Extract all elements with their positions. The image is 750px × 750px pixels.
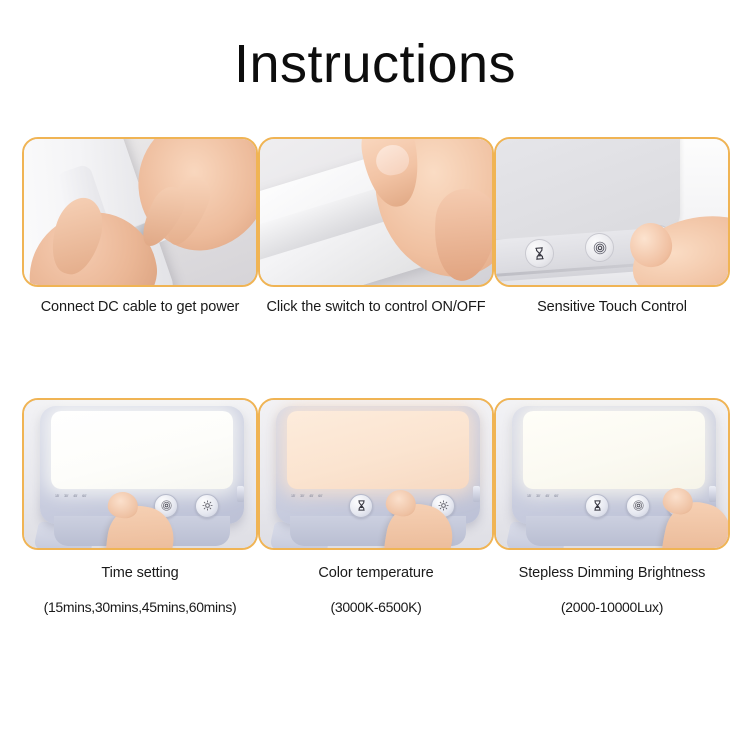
timer-mark-label: 45'	[545, 495, 549, 499]
timer-mark-label: 15'	[527, 495, 531, 499]
step-caption: Connect DC cable to get power	[41, 298, 240, 316]
lamp-port-icon	[709, 486, 716, 502]
timer-mark-45: 45'	[309, 495, 313, 499]
timer-indicator-marks: 15' 30' 45' 60'	[527, 495, 558, 499]
instruction-step-connect-power: Connect DC cable to get power	[22, 137, 258, 316]
timer-indicator-marks: 15' 30' 45' 60'	[291, 495, 322, 499]
scene-color-temperature: 15' 30' 45' 60'	[260, 400, 492, 548]
timer-mark-45: 45'	[73, 495, 77, 499]
timer-mark-30: 30'	[536, 495, 540, 499]
photo-frame-switch-onoff	[258, 137, 494, 287]
timer-mark-label: 30'	[300, 495, 304, 499]
timer-mark-15: 15'	[291, 495, 295, 499]
scene-connect-power	[24, 139, 256, 285]
photo-frame-time-setting: 15' 30' 45' 60'	[22, 398, 258, 550]
instruction-step-dimming-brightness: 15' 30' 45' 60'	[494, 398, 730, 615]
step-subcaption: (3000K-6500K)	[330, 599, 421, 615]
instruction-row-top: Connect DC cable to get power Click the …	[0, 137, 750, 316]
brightness-icon	[195, 494, 219, 518]
lamp-port-icon	[237, 486, 244, 502]
color-temperature-icon	[626, 494, 650, 518]
timer-mark-15: 15'	[55, 495, 59, 499]
timer-mark-label: 30'	[64, 495, 68, 499]
scene-dimming-brightness: 15' 30' 45' 60'	[496, 400, 728, 548]
timer-mark-label: 45'	[309, 495, 313, 499]
timer-mark-30: 30'	[64, 495, 68, 499]
timer-mark-45: 45'	[545, 495, 549, 499]
page-title: Instructions	[0, 0, 750, 93]
timer-mark-label: 30'	[536, 495, 540, 499]
photo-frame-connect-power	[22, 137, 258, 287]
step-caption: Click the switch to control ON/OFF	[267, 298, 486, 316]
light-panel	[287, 411, 469, 489]
hourglass-icon	[585, 494, 609, 518]
timer-mark-label: 60'	[318, 495, 322, 499]
lamp-port-icon	[473, 486, 480, 502]
timer-mark-15: 15'	[527, 495, 531, 499]
timer-mark-label: 15'	[55, 495, 59, 499]
timer-mark-label: 45'	[73, 495, 77, 499]
timer-indicator-marks: 15' 30' 45' 60'	[55, 495, 86, 499]
instruction-step-switch-onoff: Click the switch to control ON/OFF	[258, 137, 494, 316]
scene-switch-onoff	[260, 139, 492, 285]
hourglass-icon	[349, 494, 373, 518]
photo-frame-dimming-brightness: 15' 30' 45' 60'	[494, 398, 730, 550]
instruction-step-touch-control: Sensitive Touch Control	[494, 137, 730, 316]
light-panel	[51, 411, 233, 489]
timer-mark-60: 60'	[554, 495, 558, 499]
timer-mark-30: 30'	[300, 495, 304, 499]
step-subcaption: (2000-10000Lux)	[561, 599, 663, 615]
photo-frame-color-temperature: 15' 30' 45' 60'	[258, 398, 494, 550]
light-panel	[523, 411, 705, 489]
instruction-step-time-setting: 15' 30' 45' 60'	[22, 398, 258, 615]
instruction-row-bottom: 15' 30' 45' 60'	[0, 398, 750, 615]
photo-frame-touch-control	[494, 137, 730, 287]
step-caption: Sensitive Touch Control	[537, 298, 687, 316]
timer-mark-label: 15'	[291, 495, 295, 499]
scene-touch-control	[496, 139, 728, 285]
step-caption: Time setting	[101, 564, 178, 582]
step-subcaption: (15mins,30mins,45mins,60mins)	[44, 599, 237, 615]
step-caption: Color temperature	[318, 564, 433, 582]
step-caption: Stepless Dimming Brightness	[519, 564, 706, 582]
timer-mark-60: 60'	[82, 495, 86, 499]
instruction-step-color-temperature: 15' 30' 45' 60'	[258, 398, 494, 615]
scene-time-setting: 15' 30' 45' 60'	[24, 400, 256, 548]
timer-mark-label: 60'	[82, 495, 86, 499]
timer-mark-60: 60'	[318, 495, 322, 499]
timer-mark-label: 60'	[554, 495, 558, 499]
